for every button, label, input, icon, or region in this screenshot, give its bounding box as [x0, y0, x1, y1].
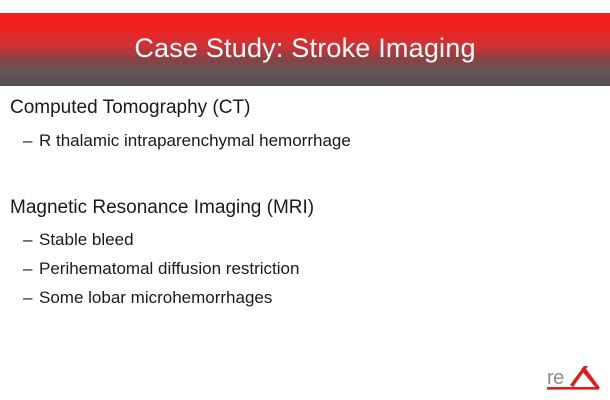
list-item-label: Stable bleed — [39, 225, 134, 254]
list-item: – Stable bleed — [10, 225, 590, 254]
brand-logo: re ················ — [544, 361, 602, 394]
section-heading-mri: Magnetic Resonance Imaging (MRI) — [10, 195, 590, 221]
section-mri: Magnetic Resonance Imaging (MRI) – Stabl… — [10, 195, 590, 312]
list-item: – R thalamic intraparenchymal hemorrhage — [10, 126, 590, 155]
bullet-list-ct: – R thalamic intraparenchymal hemorrhage — [10, 126, 590, 155]
list-item: – Perihematomal diffusion restriction — [10, 254, 590, 283]
page-title: Case Study: Stroke Imaging — [134, 35, 475, 64]
list-item-label: Some lobar microhemorrhages — [39, 283, 272, 312]
section-ct: Computed Tomography (CT) – R thalamic in… — [10, 95, 590, 155]
slide: Case Study: Stroke Imaging Computed Tomo… — [0, 0, 610, 400]
bullet-list-mri: – Stable bleed – Perihematomal diffusion… — [10, 225, 590, 312]
list-item: – Some lobar microhemorrhages — [10, 283, 590, 312]
list-item-label: Perihematomal diffusion restriction — [39, 254, 299, 283]
svg-text:re: re — [547, 367, 564, 389]
slide-body: Computed Tomography (CT) – R thalamic in… — [0, 86, 610, 400]
section-heading-ct: Computed Tomography (CT) — [10, 95, 590, 121]
dash-icon: – — [23, 126, 39, 155]
dash-icon: – — [23, 225, 39, 254]
dash-icon: – — [23, 283, 39, 312]
title-banner: Case Study: Stroke Imaging — [0, 13, 610, 86]
list-item-label: R thalamic intraparenchymal hemorrhage — [39, 126, 351, 155]
dash-icon: – — [23, 254, 39, 283]
logo-tagline: ················ — [548, 390, 600, 394]
